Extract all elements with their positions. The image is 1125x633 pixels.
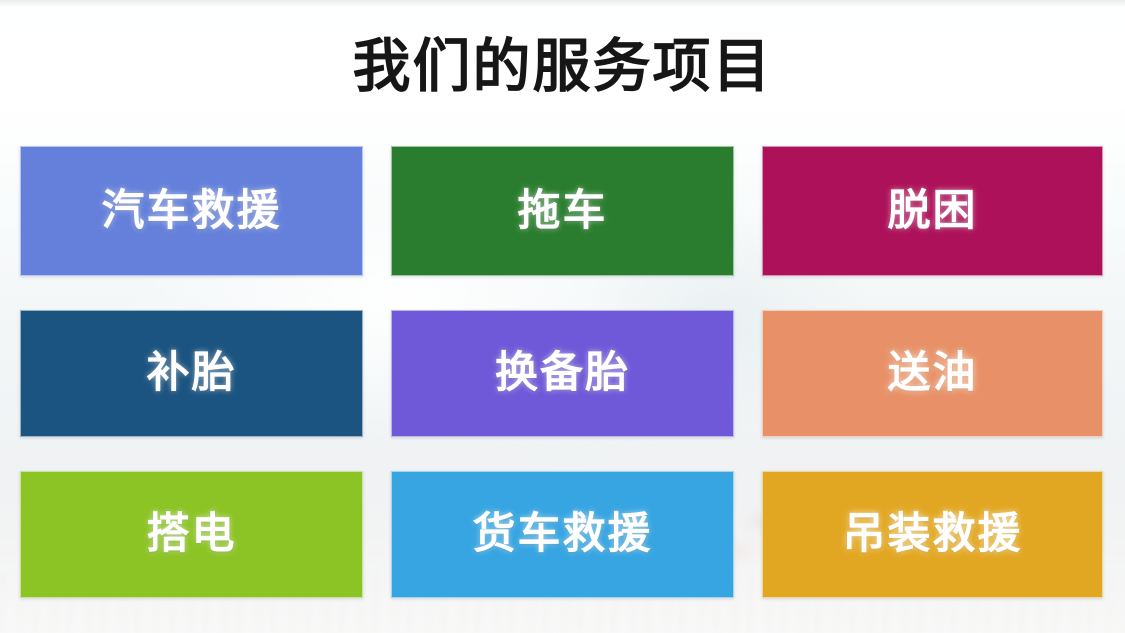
service-tile-label: 吊装救援 xyxy=(843,513,1023,556)
service-poster: 我们的服务项目 汽车救援拖车脱困补胎换备胎送油搭电货车救援吊装救援 xyxy=(0,0,1125,633)
service-tile[interactable]: 换备胎 xyxy=(391,310,734,437)
service-tile[interactable]: 脱困 xyxy=(762,146,1103,276)
service-tile-label: 补胎 xyxy=(147,352,237,395)
service-tile-label: 脱困 xyxy=(888,190,978,233)
service-tile-label: 换备胎 xyxy=(495,352,630,395)
service-tile-label: 搭电 xyxy=(147,513,237,556)
service-tile[interactable]: 搭电 xyxy=(20,471,363,598)
page-title: 我们的服务项目 xyxy=(352,37,772,95)
service-tile-label: 拖车 xyxy=(518,190,608,233)
service-tile-label: 货车救援 xyxy=(473,513,653,556)
service-tile[interactable]: 补胎 xyxy=(20,310,363,437)
service-tile-label: 送油 xyxy=(888,352,978,395)
service-tile[interactable]: 吊装救援 xyxy=(762,471,1103,598)
service-tile[interactable]: 汽车救援 xyxy=(20,146,363,276)
service-tile[interactable]: 货车救援 xyxy=(391,471,734,598)
service-tile[interactable]: 拖车 xyxy=(391,146,734,276)
service-tile-grid: 汽车救援拖车脱困补胎换备胎送油搭电货车救援吊装救援 xyxy=(20,146,1103,598)
service-tile[interactable]: 送油 xyxy=(762,310,1103,437)
poster-header: 我们的服务项目 xyxy=(0,0,1125,132)
service-tile-label: 汽车救援 xyxy=(102,190,282,233)
